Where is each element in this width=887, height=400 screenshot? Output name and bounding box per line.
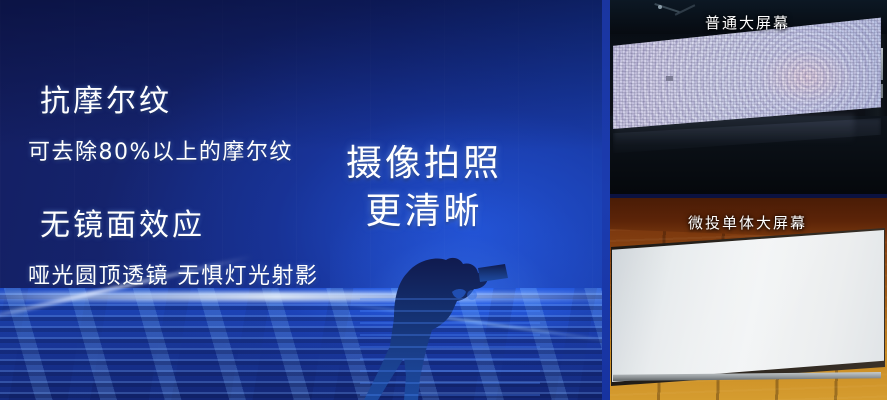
feature-1-heading: 抗摩尔纹 <box>40 76 172 120</box>
top-vignette <box>0 0 608 150</box>
stage-background: 抗摩尔纹 可去除80%以上的摩尔纹 无镜面效应 哑光圆顶透镜 无惧灯光射影 摄像… <box>0 0 608 400</box>
ceiling-light-icon <box>658 5 662 9</box>
photo-micro-projection-screen[interactable]: 微投单体大屏幕 <box>608 198 887 400</box>
feature-2-heading: 无镜面效应 <box>40 200 205 244</box>
promo-banner: 抗摩尔纹 可去除80%以上的摩尔纹 无镜面效应 哑光圆顶透镜 无惧灯光射影 摄像… <box>0 0 887 400</box>
comparison-photo-column: 普通大屏幕 微投单体大屏幕 <box>608 0 887 400</box>
photo-caption-ordinary: 普通大屏幕 <box>608 12 887 33</box>
center-claim-line-1: 摄像拍照 <box>328 140 520 188</box>
panel-seam-divider <box>602 0 610 400</box>
projection-screen-sheen <box>612 230 884 382</box>
photo-caption-micro-projection: 微投单体大屏幕 <box>608 212 887 233</box>
photo-ordinary-screen[interactable]: 普通大屏幕 <box>608 0 887 194</box>
feature-1-subheading: 可去除80%以上的摩尔纹 <box>28 134 293 166</box>
led-wall-logo-mark <box>666 76 673 81</box>
feature-2-subheading: 哑光圆顶透镜 无惧灯光射影 <box>28 258 319 290</box>
projection-screen-surface <box>612 230 884 382</box>
center-claim: 摄像拍照 更清晰 <box>328 140 520 236</box>
floor-scanlines <box>0 288 608 400</box>
perspective-floor <box>0 288 608 400</box>
center-claim-line-2: 更清晰 <box>328 188 520 236</box>
